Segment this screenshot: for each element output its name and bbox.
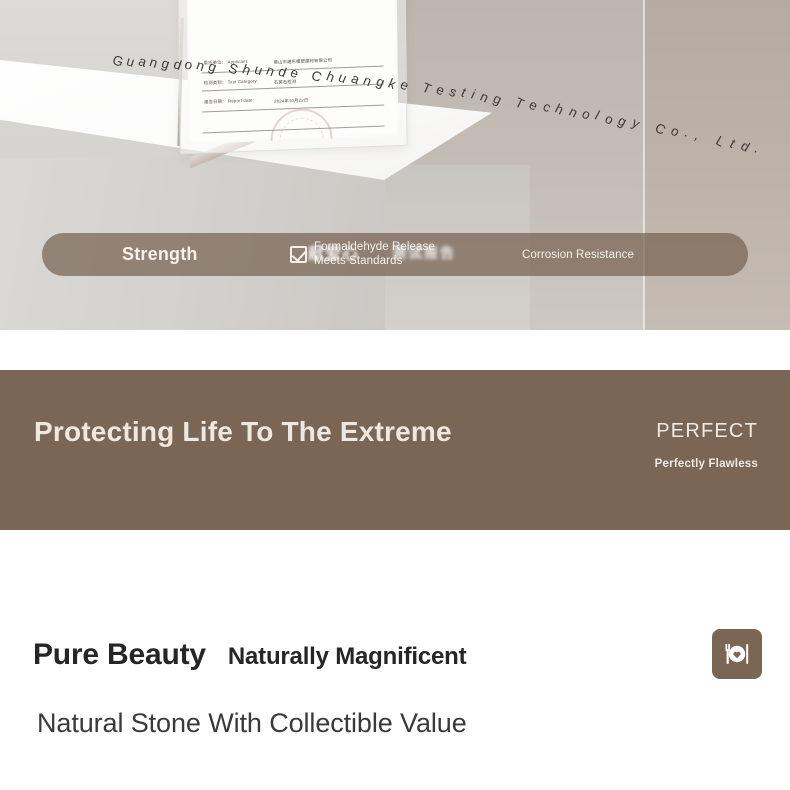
- checkbox-check-icon: [290, 246, 307, 263]
- certificate-rule-1: [202, 66, 384, 74]
- bottom-copy-section: Pure Beauty Naturally Magnificent Natura…: [0, 530, 790, 790]
- wall-seam-right: [643, 0, 645, 330]
- certificate-value-date: 2024年10月22日: [274, 97, 308, 104]
- feature-label-corrosion: Corrosion Resistance: [522, 249, 634, 261]
- certificate-signature-line-1: [231, 141, 351, 144]
- certificate-value-applicant: 佛山市建东模塑建材有限公司: [274, 57, 332, 65]
- bottom-title-row: Pure Beauty Naturally Magnificent: [33, 638, 466, 672]
- feature-item-corrosion: Corrosion Resistance: [522, 249, 634, 261]
- bottom-title-line2: Natural Stone With Collectible Value: [37, 708, 467, 739]
- feature-item-formaldehyde: Formaldehyde Release Meets Standards: [290, 241, 435, 267]
- certificate-paper: 委托单位： Applicant: 佛山市建东模塑建材有限公司 检测类别： Tes…: [185, 0, 398, 144]
- banner-headline: Protecting Life To The Extreme: [34, 414, 454, 450]
- product-detail-page: 委托单位： Applicant: 佛山市建东模塑建材有限公司 检测类别： Tes…: [0, 0, 790, 790]
- certificate-label-category: 检测类别： Test Category:: [204, 78, 258, 86]
- certificate-red-seal-stamp: [270, 108, 333, 145]
- brand-banner: Protecting Life To The Extreme PERFECT P…: [0, 370, 790, 530]
- certificate-label-applicant: 委托单位： Applicant:: [204, 59, 249, 67]
- dinner-plate-heart-icon: [712, 629, 762, 679]
- feature-label-strength: Strength: [122, 244, 198, 265]
- certificate-value-category: 石英石检测: [274, 79, 297, 86]
- banner-tagline: Perfectly Flawless: [655, 458, 758, 470]
- bottom-title-sub: Naturally Magnificent: [228, 643, 467, 671]
- certificate-label-date: 报告日期： Report date:: [204, 98, 254, 106]
- hero-photo: 委托单位： Applicant: 佛山市建东模塑建材有限公司 检测类别： Tes…: [0, 0, 790, 330]
- acrylic-certificate-frame: 委托单位： Applicant: 佛山市建东模塑建材有限公司 检测类别： Tes…: [176, 0, 407, 154]
- banner-brand-name: PERFECT: [656, 420, 758, 443]
- feature-label-formaldehyde: Formaldehyde Release Meets Standards: [314, 241, 435, 267]
- feature-pill-bar: Strength Formaldehyde Release Meets Stan…: [42, 233, 748, 276]
- bottom-title-main: Pure Beauty: [33, 638, 206, 672]
- feature-item-strength: Strength: [122, 244, 198, 265]
- wall-panel-right: [644, 0, 790, 330]
